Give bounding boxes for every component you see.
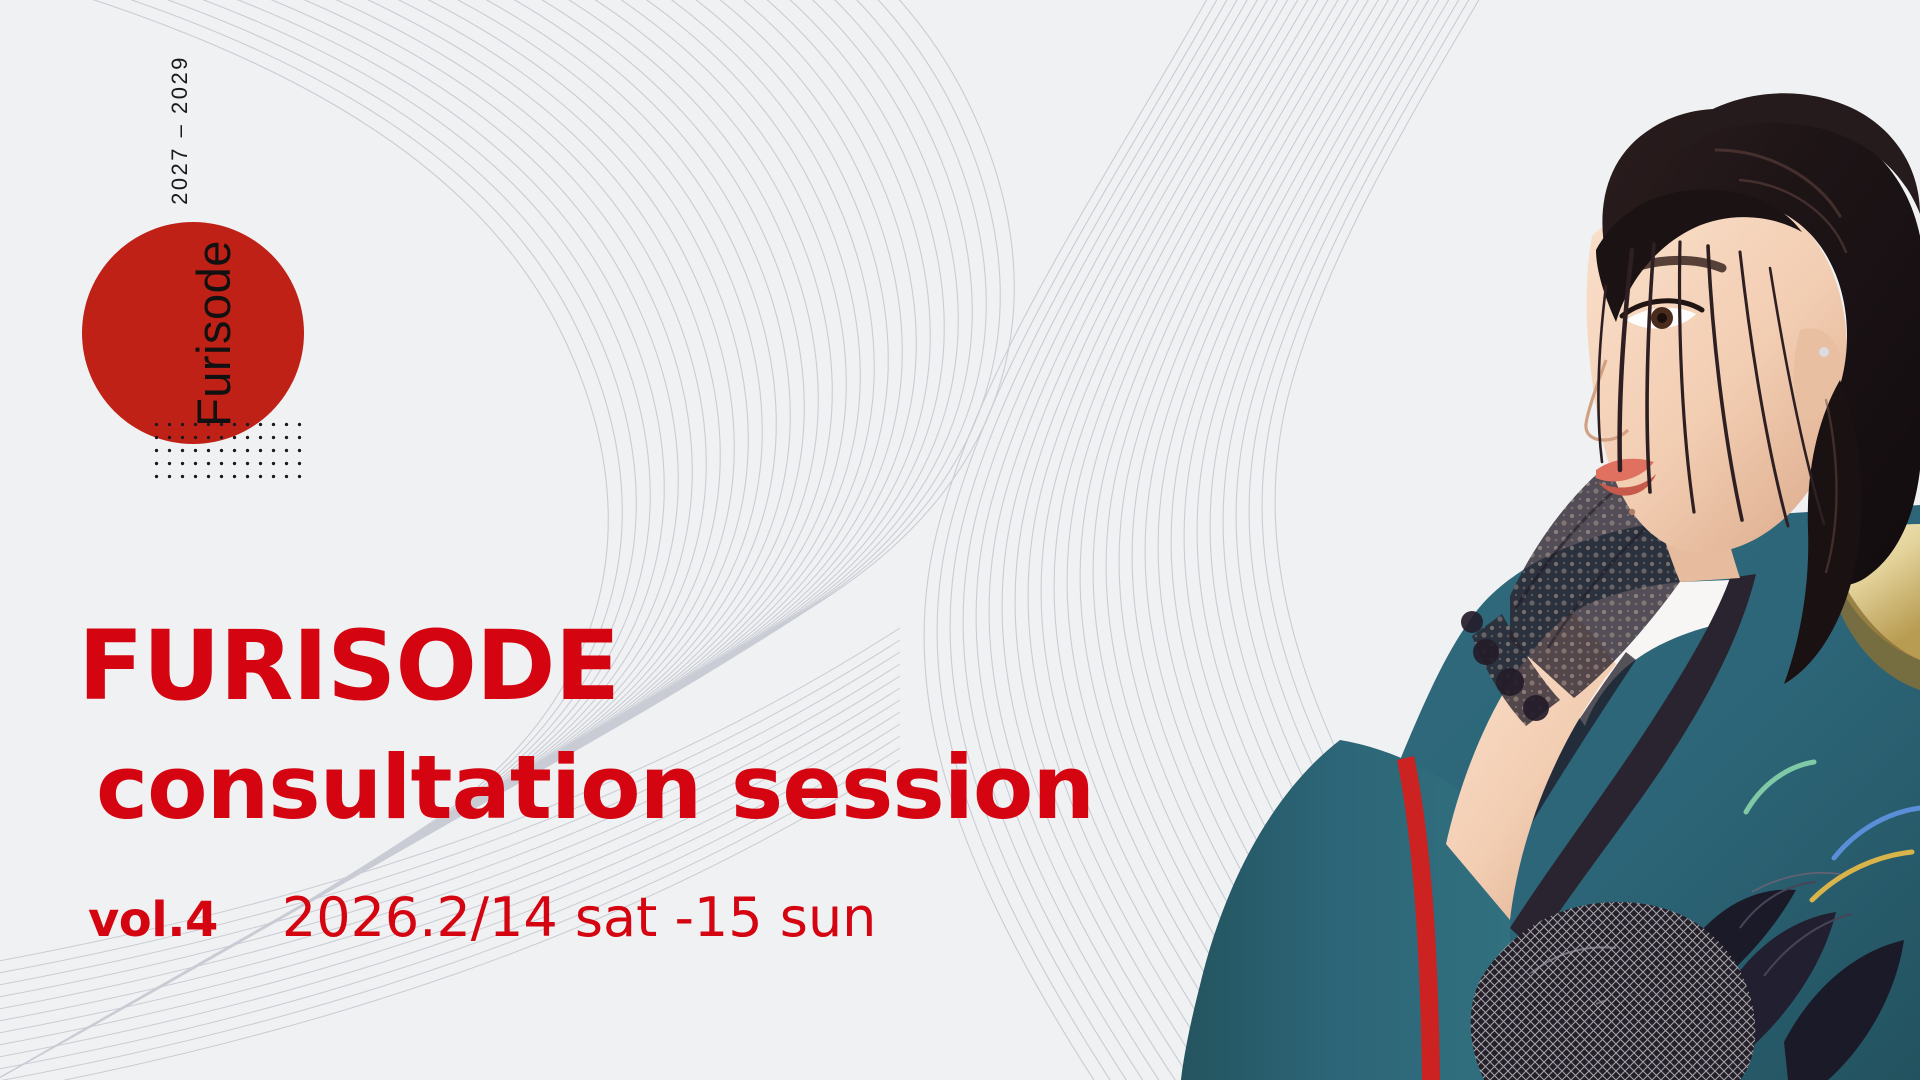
volume-badge: vol.4	[88, 892, 218, 948]
badge-word-label: Furisode	[82, 222, 304, 444]
ear-piercing	[1819, 347, 1829, 357]
furisode-promo-banner: 2027 – 2029 Furisode FURISODE consultati…	[0, 0, 1920, 1080]
event-meta-row: vol.4 2026.2/14 sat -15 sun	[88, 886, 1198, 949]
headline-block: FURISODE consultation session vol.4 2026…	[78, 618, 1198, 949]
badge-years-text: 2027 – 2029	[167, 55, 193, 205]
badge-word-text: Furisode	[186, 240, 241, 427]
page-subtitle: consultation session	[96, 744, 1198, 832]
event-dates: 2026.2/14 sat -15 sun	[282, 886, 877, 949]
badge-years-label: 2027 – 2029	[120, 40, 240, 220]
page-title: FURISODE	[78, 618, 1198, 714]
dot-grid-decoration	[150, 418, 306, 480]
model-photo	[1040, 0, 1920, 1080]
